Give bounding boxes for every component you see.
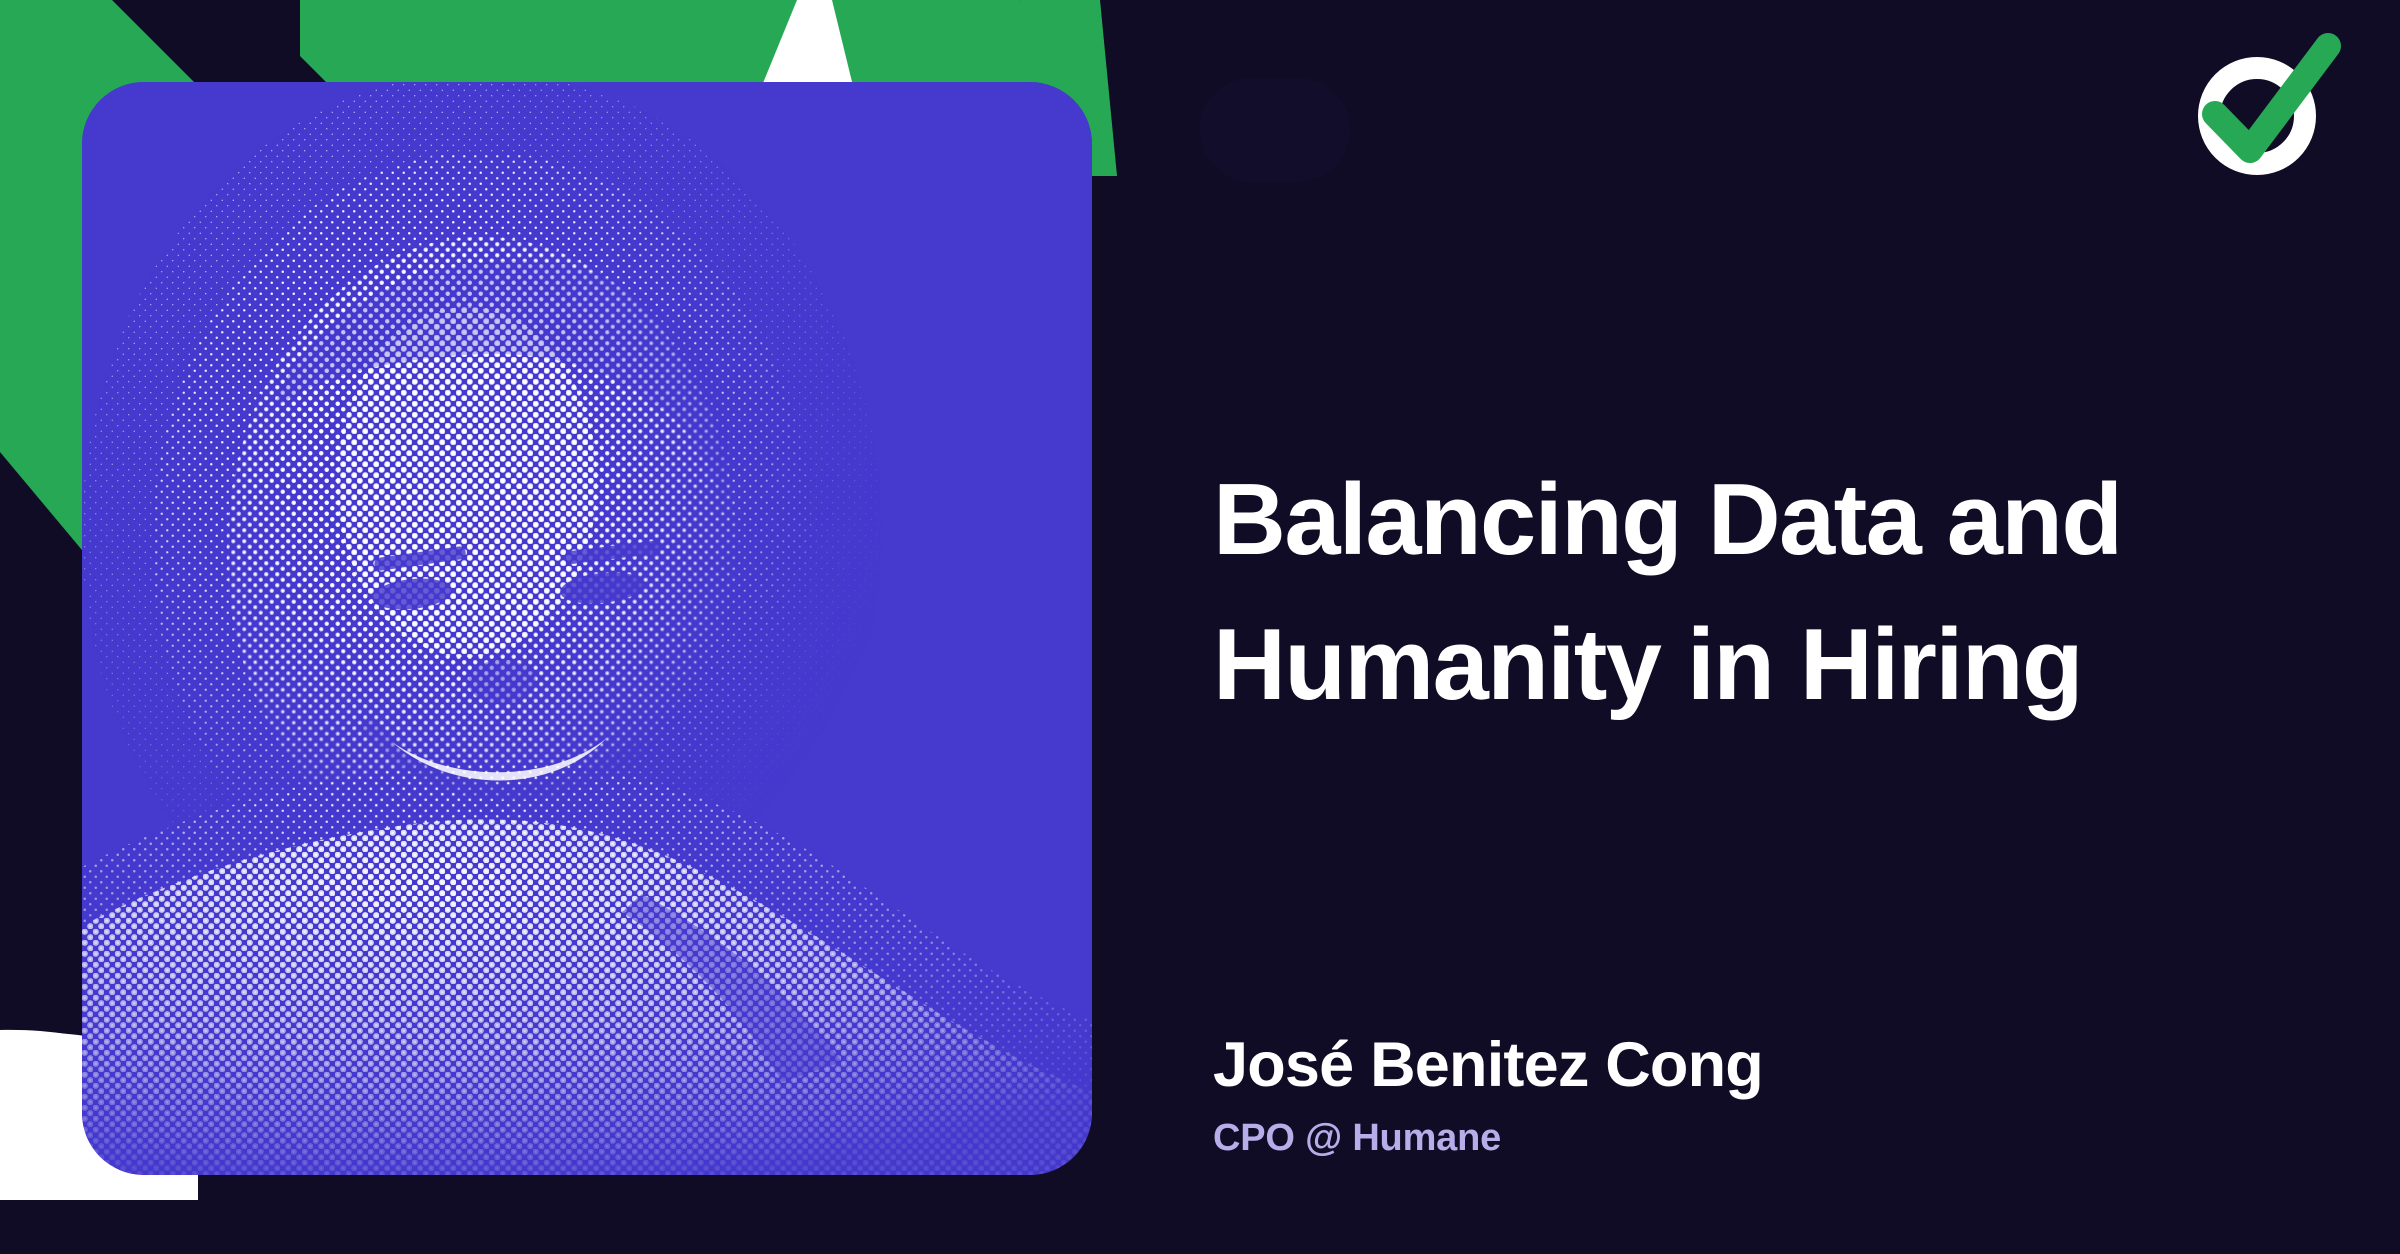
speaker-portrait-card	[82, 82, 1092, 1175]
speaker-role: CPO @ Humane	[1213, 1116, 2343, 1162]
speaker-card-canvas: Balancing Data and Humanity in Hiring Jo…	[0, 0, 2400, 1254]
talk-content: Balancing Data and Humanity in Hiring Jo…	[1213, 0, 2353, 1254]
talk-title: Balancing Data and Humanity in Hiring	[1213, 448, 2343, 739]
check-circle-logo	[2172, 28, 2352, 178]
speaker-name: José Benitez Cong	[1213, 1028, 2343, 1102]
speaker-info: José Benitez Cong CPO @ Humane	[1213, 1028, 2343, 1162]
speaker-portrait-halftone	[82, 82, 1092, 1175]
